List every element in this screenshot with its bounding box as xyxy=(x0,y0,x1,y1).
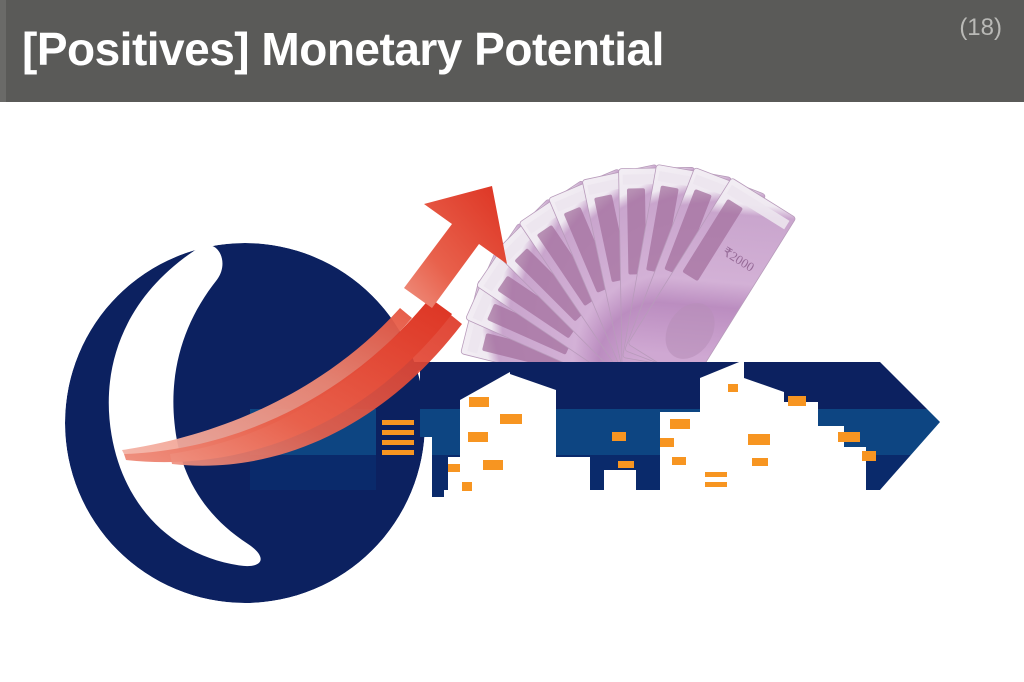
page-title: [Positives] Monetary Potential xyxy=(22,18,664,80)
main-graphic: ₹2000 ₹2000 ₹20 xyxy=(0,102,1024,682)
header-left-edge-accent xyxy=(0,0,6,102)
slide-number: (18) xyxy=(959,14,1002,42)
slide: [Positives] Monetary Potential (18) xyxy=(0,0,1024,682)
key-city-money-illustration: ₹2000 ₹2000 ₹20 xyxy=(0,102,1024,682)
slide-header-bar: [Positives] Monetary Potential (18) xyxy=(0,0,1024,102)
